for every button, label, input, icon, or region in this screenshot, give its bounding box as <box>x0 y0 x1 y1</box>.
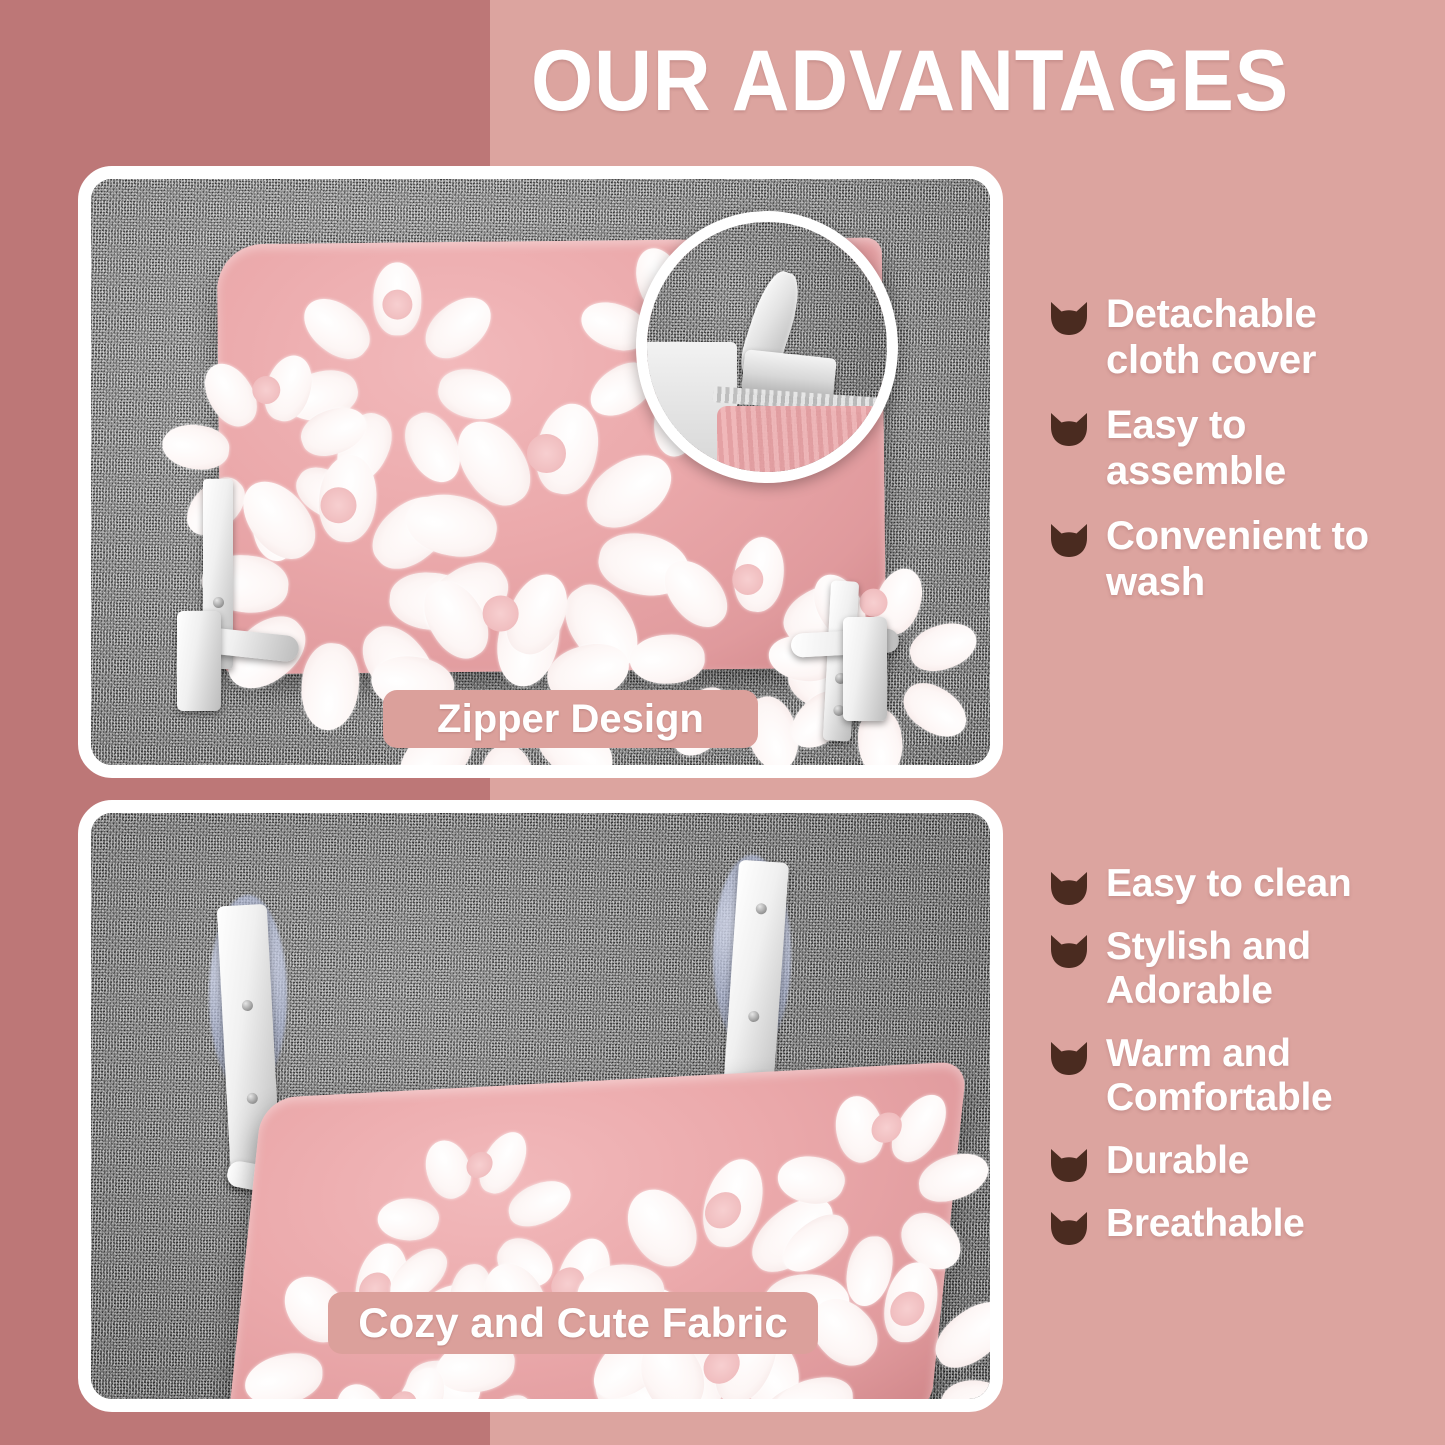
feature-item: Convenient to wash <box>1048 514 1418 605</box>
cat-head-icon <box>1048 932 1090 970</box>
product-photo-panel-fabric: Cozy and Cute Fabric <box>78 800 1003 1412</box>
cat-head-icon <box>1048 1209 1090 1247</box>
bracket-foot-right <box>843 617 887 721</box>
feature-item: Stylish and Adorable <box>1048 925 1418 1014</box>
feature-item: Easy to clean <box>1048 862 1418 907</box>
feature-label: Breathable <box>1106 1202 1305 1246</box>
cat-head-icon <box>1048 299 1090 337</box>
feature-label: Detachable cloth cover <box>1106 292 1418 383</box>
caption-label-zipper: Zipper Design <box>437 697 704 742</box>
feature-item: Easy to assemble <box>1048 403 1418 494</box>
bracket-foot-left <box>177 611 221 711</box>
feature-list-top: Detachable cloth cover Easy to assemble … <box>1048 292 1418 626</box>
feature-item: Warm and Comfortable <box>1048 1032 1418 1121</box>
feature-label: Stylish and Adorable <box>1106 925 1418 1014</box>
product-photo-panel-zipper: Zipper Design <box>78 166 1003 778</box>
caption-pill-fabric: Cozy and Cute Fabric <box>328 1292 818 1354</box>
cat-head-icon <box>1048 521 1090 559</box>
feature-label: Easy to assemble <box>1106 403 1418 494</box>
feature-label: Warm and Comfortable <box>1106 1032 1418 1121</box>
feature-item: Detachable cloth cover <box>1048 292 1418 383</box>
zipper-detail-inset <box>636 211 898 483</box>
feature-label: Easy to clean <box>1106 862 1351 906</box>
feature-label: Durable <box>1106 1139 1249 1183</box>
page-title: OUR ADVANTAGES <box>464 38 1357 124</box>
caption-pill-zipper: Zipper Design <box>383 690 758 748</box>
inset-fabric-edge <box>717 406 898 483</box>
feature-label: Convenient to wash <box>1106 514 1418 605</box>
feature-item: Durable <box>1048 1139 1418 1184</box>
cat-head-icon <box>1048 1039 1090 1077</box>
caption-label-fabric: Cozy and Cute Fabric <box>358 1299 787 1347</box>
feature-item: Breathable <box>1048 1202 1418 1247</box>
cat-head-icon <box>1048 869 1090 907</box>
feature-list-bottom: Easy to clean Stylish and Adorable Warm … <box>1048 862 1418 1265</box>
hammock-fabric-bottom <box>225 1061 967 1412</box>
infographic-page: OUR ADVANTAGES <box>0 0 1445 1445</box>
cat-head-icon <box>1048 410 1090 448</box>
cat-head-icon <box>1048 1146 1090 1184</box>
